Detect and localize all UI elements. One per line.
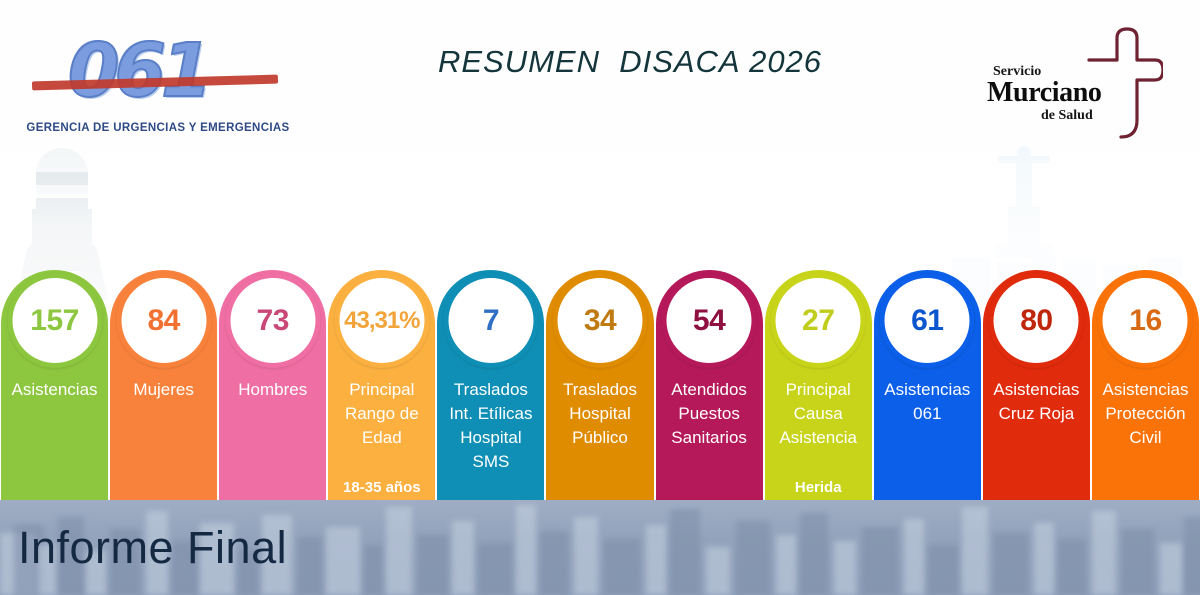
stat-columns: 157Asistencias84Mujeres73Hombres43,31%Pr…: [0, 270, 1200, 502]
city-building: [776, 535, 796, 595]
cathedral-neck-shape: [36, 185, 88, 199]
poster-footer: Informe Final: [0, 500, 1200, 595]
city-building: [800, 513, 828, 595]
city-building: [298, 537, 322, 595]
stat-value: 80: [1020, 306, 1052, 336]
stat-circle: 27: [771, 273, 866, 368]
city-building: [1092, 511, 1116, 595]
logo-061-digits: 061: [68, 28, 207, 114]
city-building: [862, 527, 898, 595]
stat-sublabel: 18-35 años: [328, 479, 435, 496]
city-building: [904, 519, 924, 595]
stat-circle: 73: [225, 273, 320, 368]
infographic-poster: 061 GERENCIA DE URGENCIAS Y EMERGENCIAS …: [0, 0, 1200, 595]
city-building: [1058, 539, 1086, 595]
stat-column-10[interactable]: 80Asistencias Cruz Roja: [983, 270, 1090, 502]
stat-value: 54: [693, 306, 725, 336]
stat-column-5[interactable]: 7Traslados Int. Etílicas Hospital SMS: [437, 270, 544, 502]
city-building: [646, 525, 666, 595]
stat-circle: 7: [443, 273, 538, 368]
city-building: [994, 533, 1028, 595]
stat-value: 7: [483, 306, 499, 336]
city-building: [418, 535, 448, 595]
stat-label: Principal Causa Asistencia: [765, 378, 872, 450]
city-building: [1184, 517, 1200, 595]
city-building: [962, 507, 988, 595]
stat-value: 61: [911, 306, 943, 336]
sms-logo-line3: de Salud: [1041, 108, 1093, 124]
page-title: RESUMEN DISACA 2026: [300, 44, 960, 80]
stat-label: Traslados Int. Etílicas Hospital SMS: [437, 378, 544, 475]
city-building: [928, 545, 958, 595]
city-building: [516, 505, 536, 595]
stat-column-9[interactable]: 61Asistencias 061: [874, 270, 981, 502]
cathedral-cap-shape: [36, 148, 88, 194]
stat-label: Asistencias 061: [874, 378, 981, 426]
stat-circle: 80: [989, 273, 1084, 368]
stat-label: Asistencias Cruz Roja: [983, 378, 1090, 426]
stat-label: Asistencias: [1, 378, 108, 402]
stat-circle: 54: [662, 273, 757, 368]
stat-value: 84: [147, 306, 179, 336]
stat-column-1[interactable]: 157Asistencias: [1, 270, 108, 502]
city-building: [1160, 543, 1182, 595]
stat-value: 43,31%: [344, 309, 419, 333]
stat-circle: 34: [553, 273, 648, 368]
city-building: [326, 527, 360, 595]
sms-logo-line2: Murciano: [987, 77, 1102, 109]
cathedral-band-upper: [36, 172, 88, 185]
city-building: [834, 541, 856, 595]
stat-column-7[interactable]: 54Atendidos Puestos Sanitarios: [656, 270, 763, 502]
stat-value: 34: [584, 306, 616, 336]
stat-column-3[interactable]: 73Hombres: [219, 270, 326, 502]
stat-value: 27: [802, 306, 834, 336]
stat-label: Traslados Hospital Público: [546, 378, 653, 450]
stat-circle: 84: [116, 273, 211, 368]
city-building: [670, 509, 700, 595]
logo-061-caption: GERENCIA DE URGENCIAS Y EMERGENCIAS: [24, 122, 292, 134]
stat-column-2[interactable]: 84Mujeres: [110, 270, 217, 502]
statue-foot-shape: [995, 245, 1053, 258]
city-building: [706, 547, 730, 595]
city-building: [604, 539, 640, 595]
city-building: [386, 507, 412, 595]
poster-header: 061 GERENCIA DE URGENCIAS Y EMERGENCIAS …: [0, 0, 1200, 150]
stat-value: 73: [257, 306, 289, 336]
stat-column-4[interactable]: 43,31%Principal Rango de Edad18-35 años: [328, 270, 435, 502]
logo-servicio-murciano-salud: Servicio Murciano de Salud: [985, 22, 1185, 142]
stat-label: Principal Rango de Edad: [328, 378, 435, 450]
city-building: [1122, 529, 1154, 595]
logo-061: 061 GERENCIA DE URGENCIAS Y EMERGENCIAS: [24, 26, 292, 141]
city-building: [452, 521, 474, 595]
stat-column-6[interactable]: 34Traslados Hospital Público: [546, 270, 653, 502]
stat-column-11[interactable]: 16Asistencias Protección Civil: [1092, 270, 1199, 502]
cathedral-shaft-shape: [32, 209, 92, 271]
city-building: [1034, 523, 1054, 595]
city-building: [736, 521, 770, 595]
city-building: [574, 517, 598, 595]
statue-body-shape: [1016, 160, 1032, 208]
stat-value: 157: [30, 306, 79, 336]
stat-label: Atendidos Puestos Sanitarios: [656, 378, 763, 450]
footer-title: Informe Final: [18, 522, 287, 574]
stat-label: Asistencias Protección Civil: [1092, 378, 1199, 450]
stat-sublabel: Herida: [765, 479, 872, 496]
stat-label: Hombres: [219, 378, 326, 402]
statue-plinth-shape: [1008, 207, 1040, 247]
statue-arms-shape: [998, 156, 1050, 163]
stat-value: 16: [1129, 306, 1161, 336]
city-building: [540, 531, 568, 595]
stat-label: Mujeres: [110, 378, 217, 402]
stat-circle: 43,31%: [334, 273, 429, 368]
city-building: [364, 545, 382, 595]
cathedral-band-lower: [36, 198, 88, 209]
stat-circle: 16: [1098, 273, 1193, 368]
stat-column-8[interactable]: 27Principal Causa AsistenciaHerida: [765, 270, 872, 502]
stat-circle: 157: [7, 273, 102, 368]
city-building: [478, 543, 512, 595]
stat-circle: 61: [880, 273, 975, 368]
